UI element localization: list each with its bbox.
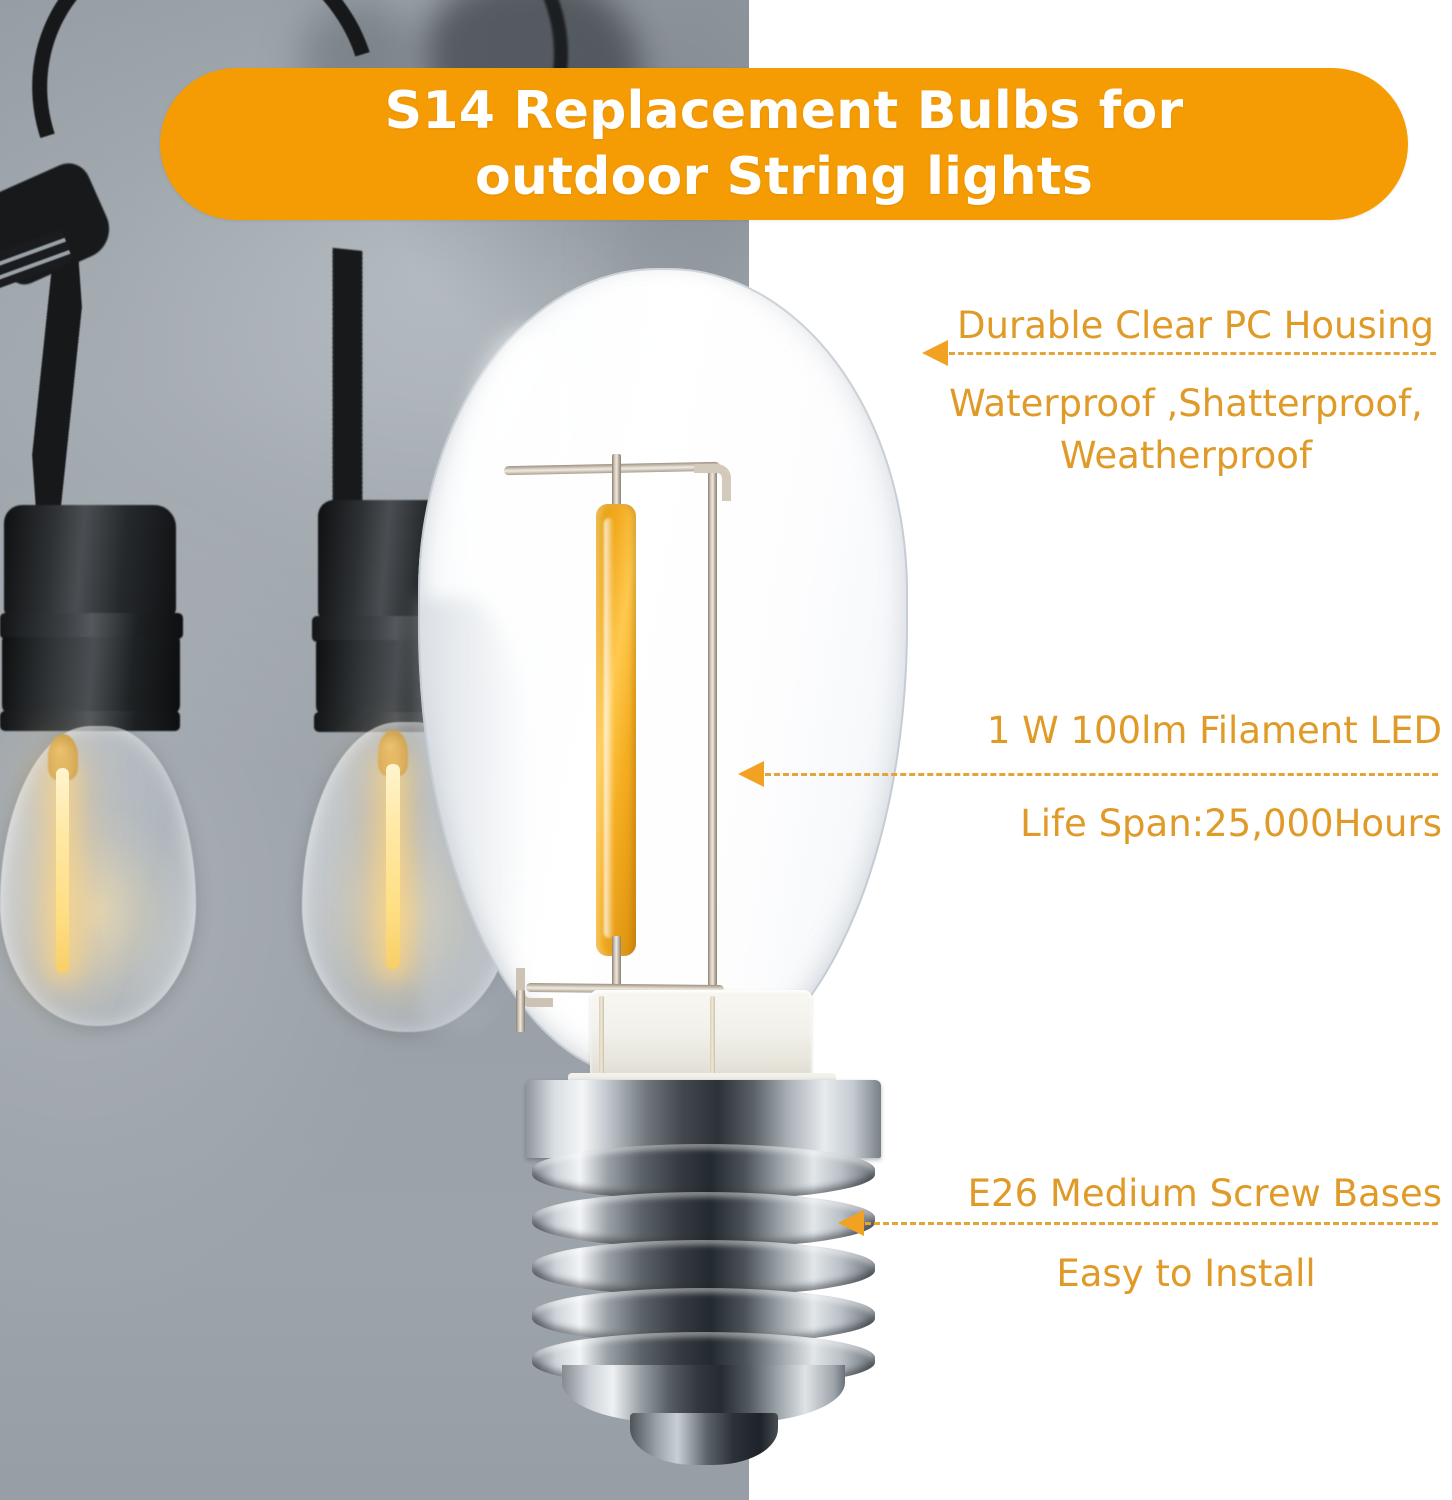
title-line-1: S14 Replacement Bulbs for <box>385 78 1184 144</box>
bulb-base-block <box>590 990 812 1080</box>
callout-housing-pointer <box>922 345 1436 361</box>
filament-led <box>596 504 636 956</box>
main-product-bulb <box>398 268 928 1458</box>
infographic-canvas: S14 Replacement Bulbs for outdoor String… <box>0 0 1452 1500</box>
callout-led-line-2: Life Span:25,000Hours <box>930 798 1442 850</box>
arrow-left-icon <box>838 1210 864 1236</box>
callout-led-pointer <box>738 766 1438 782</box>
callout-led-line-1: 1 W 100lm Filament LED <box>930 705 1442 757</box>
filament-led-gloss <box>604 518 614 938</box>
callout-base-line-2: Easy to Install <box>930 1248 1442 1300</box>
dashed-leader-line <box>949 352 1436 355</box>
callout-housing-line-2: Waterproof ,Shatterproof, <box>930 378 1442 430</box>
arrow-left-icon <box>922 340 948 366</box>
base-internal-wire <box>710 996 715 1074</box>
e26-screw-base <box>526 1080 881 1460</box>
callout-base: E26 Medium Screw Bases <box>930 1168 1442 1220</box>
screw-base-contact-tip <box>630 1413 778 1465</box>
callout-base-pointer <box>838 1215 1438 1231</box>
callout-base-line-1: E26 Medium Screw Bases <box>930 1168 1442 1220</box>
callout-led-body: Life Span:25,000Hours <box>930 798 1442 850</box>
title-banner: S14 Replacement Bulbs for outdoor String… <box>160 68 1408 220</box>
filament-return-wire <box>708 468 717 988</box>
base-internal-wire <box>599 996 604 1074</box>
filament-wire-bend <box>694 464 731 501</box>
filament-lead-wire <box>516 990 525 1032</box>
callout-housing-line-3: Weatherproof <box>930 430 1442 482</box>
hanging-bulb-filament <box>56 768 69 973</box>
bulb-socket <box>0 505 190 740</box>
callout-led: 1 W 100lm Filament LED <box>930 705 1442 757</box>
callout-base-body: Easy to Install <box>930 1248 1442 1300</box>
title-line-2: outdoor String lights <box>475 144 1093 210</box>
dashed-leader-line <box>765 773 1438 776</box>
callout-housing-body: Waterproof ,Shatterproof, Weatherproof <box>930 378 1442 482</box>
dashed-leader-line <box>865 1222 1438 1225</box>
arrow-left-icon <box>738 761 764 787</box>
